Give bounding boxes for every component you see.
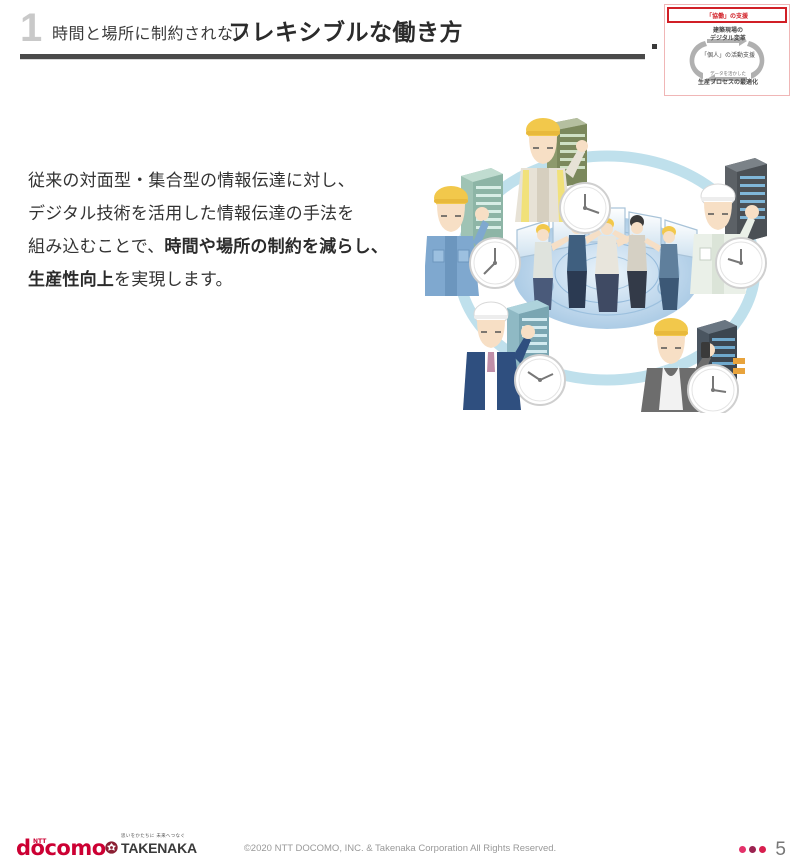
takenaka-tagline: 思いをかたちに 未来へつなぐ xyxy=(121,833,185,839)
header-subtitle: 時間と場所に制約されない xyxy=(52,20,250,44)
diagram-center-label: 「個人」の活動支援 xyxy=(665,52,791,60)
body-line-3-emphasis: 時間や場所の制約を減らし、 xyxy=(164,237,388,257)
body-line-4-emphasis: 生産性向上 xyxy=(28,270,114,290)
clock-right xyxy=(716,238,766,288)
page-dot-1 xyxy=(739,846,746,853)
page-number: 5 xyxy=(775,840,786,859)
node-worker-bottom-right xyxy=(641,318,745,413)
slide-footer: NTT docomo 思いをかたちに 未来へつなぐ TAKENAKA ©2020… xyxy=(0,414,800,450)
body-text: 従来の対面型・集合型の情報伝達に対し、 デジタル技術を活用した情報伝達の手法を … xyxy=(28,165,418,297)
diagram-top-label: 建築現場の デジタル変革 xyxy=(665,27,791,43)
body-line-4: 生産性向上を実現します。 xyxy=(28,264,418,297)
body-line-3: 組み込むことで、時間や場所の制約を減らし、 xyxy=(28,231,418,264)
section-number: 1 xyxy=(20,8,41,48)
slide-root: 1 時間と場所に制約されない フレキシブルな働き方 「協働」の支援 建築現場の … xyxy=(0,0,800,450)
flexible-work-illustration xyxy=(425,118,790,413)
copyright-text: ©2020 NTT DOCOMO, INC. & Takenaka Corpor… xyxy=(0,843,800,854)
body-line-3-plain: 組み込むことで、 xyxy=(28,237,164,257)
clock-left xyxy=(470,238,520,288)
clock-bottom-right xyxy=(688,365,738,413)
clock-bottom-left xyxy=(515,355,565,405)
mini-cycle-diagram: 「協働」の支援 建築現場の デジタル変革 「個人」の活動支援 データを活かした … xyxy=(664,4,790,96)
header-divider xyxy=(20,54,645,59)
body-line-1: 従来の対面型・集合型の情報伝達に対し、 xyxy=(28,165,418,198)
page-dot-2 xyxy=(749,846,756,853)
body-line-2: デジタル技術を活用した情報伝達の手法を xyxy=(28,198,418,231)
diagram-bullet-marker xyxy=(652,44,657,49)
body-line-4-plain: を実現します。 xyxy=(114,270,233,290)
page-title: フレキシブルな働き方 xyxy=(228,13,463,47)
clock-top xyxy=(560,183,610,233)
page-dot-3 xyxy=(759,846,766,853)
diagram-bottom-label: 生産プロセスの最適化 xyxy=(665,79,791,87)
diagram-top-line1: 建築現場の xyxy=(713,27,743,34)
diagram-top-line2: デジタル変革 xyxy=(710,35,746,42)
page-indicator: 5 xyxy=(739,838,786,860)
diagram-highlight-label: 「協働」の支援 xyxy=(667,7,787,23)
diagram-bottom-small-label: データを活かした xyxy=(665,72,791,78)
